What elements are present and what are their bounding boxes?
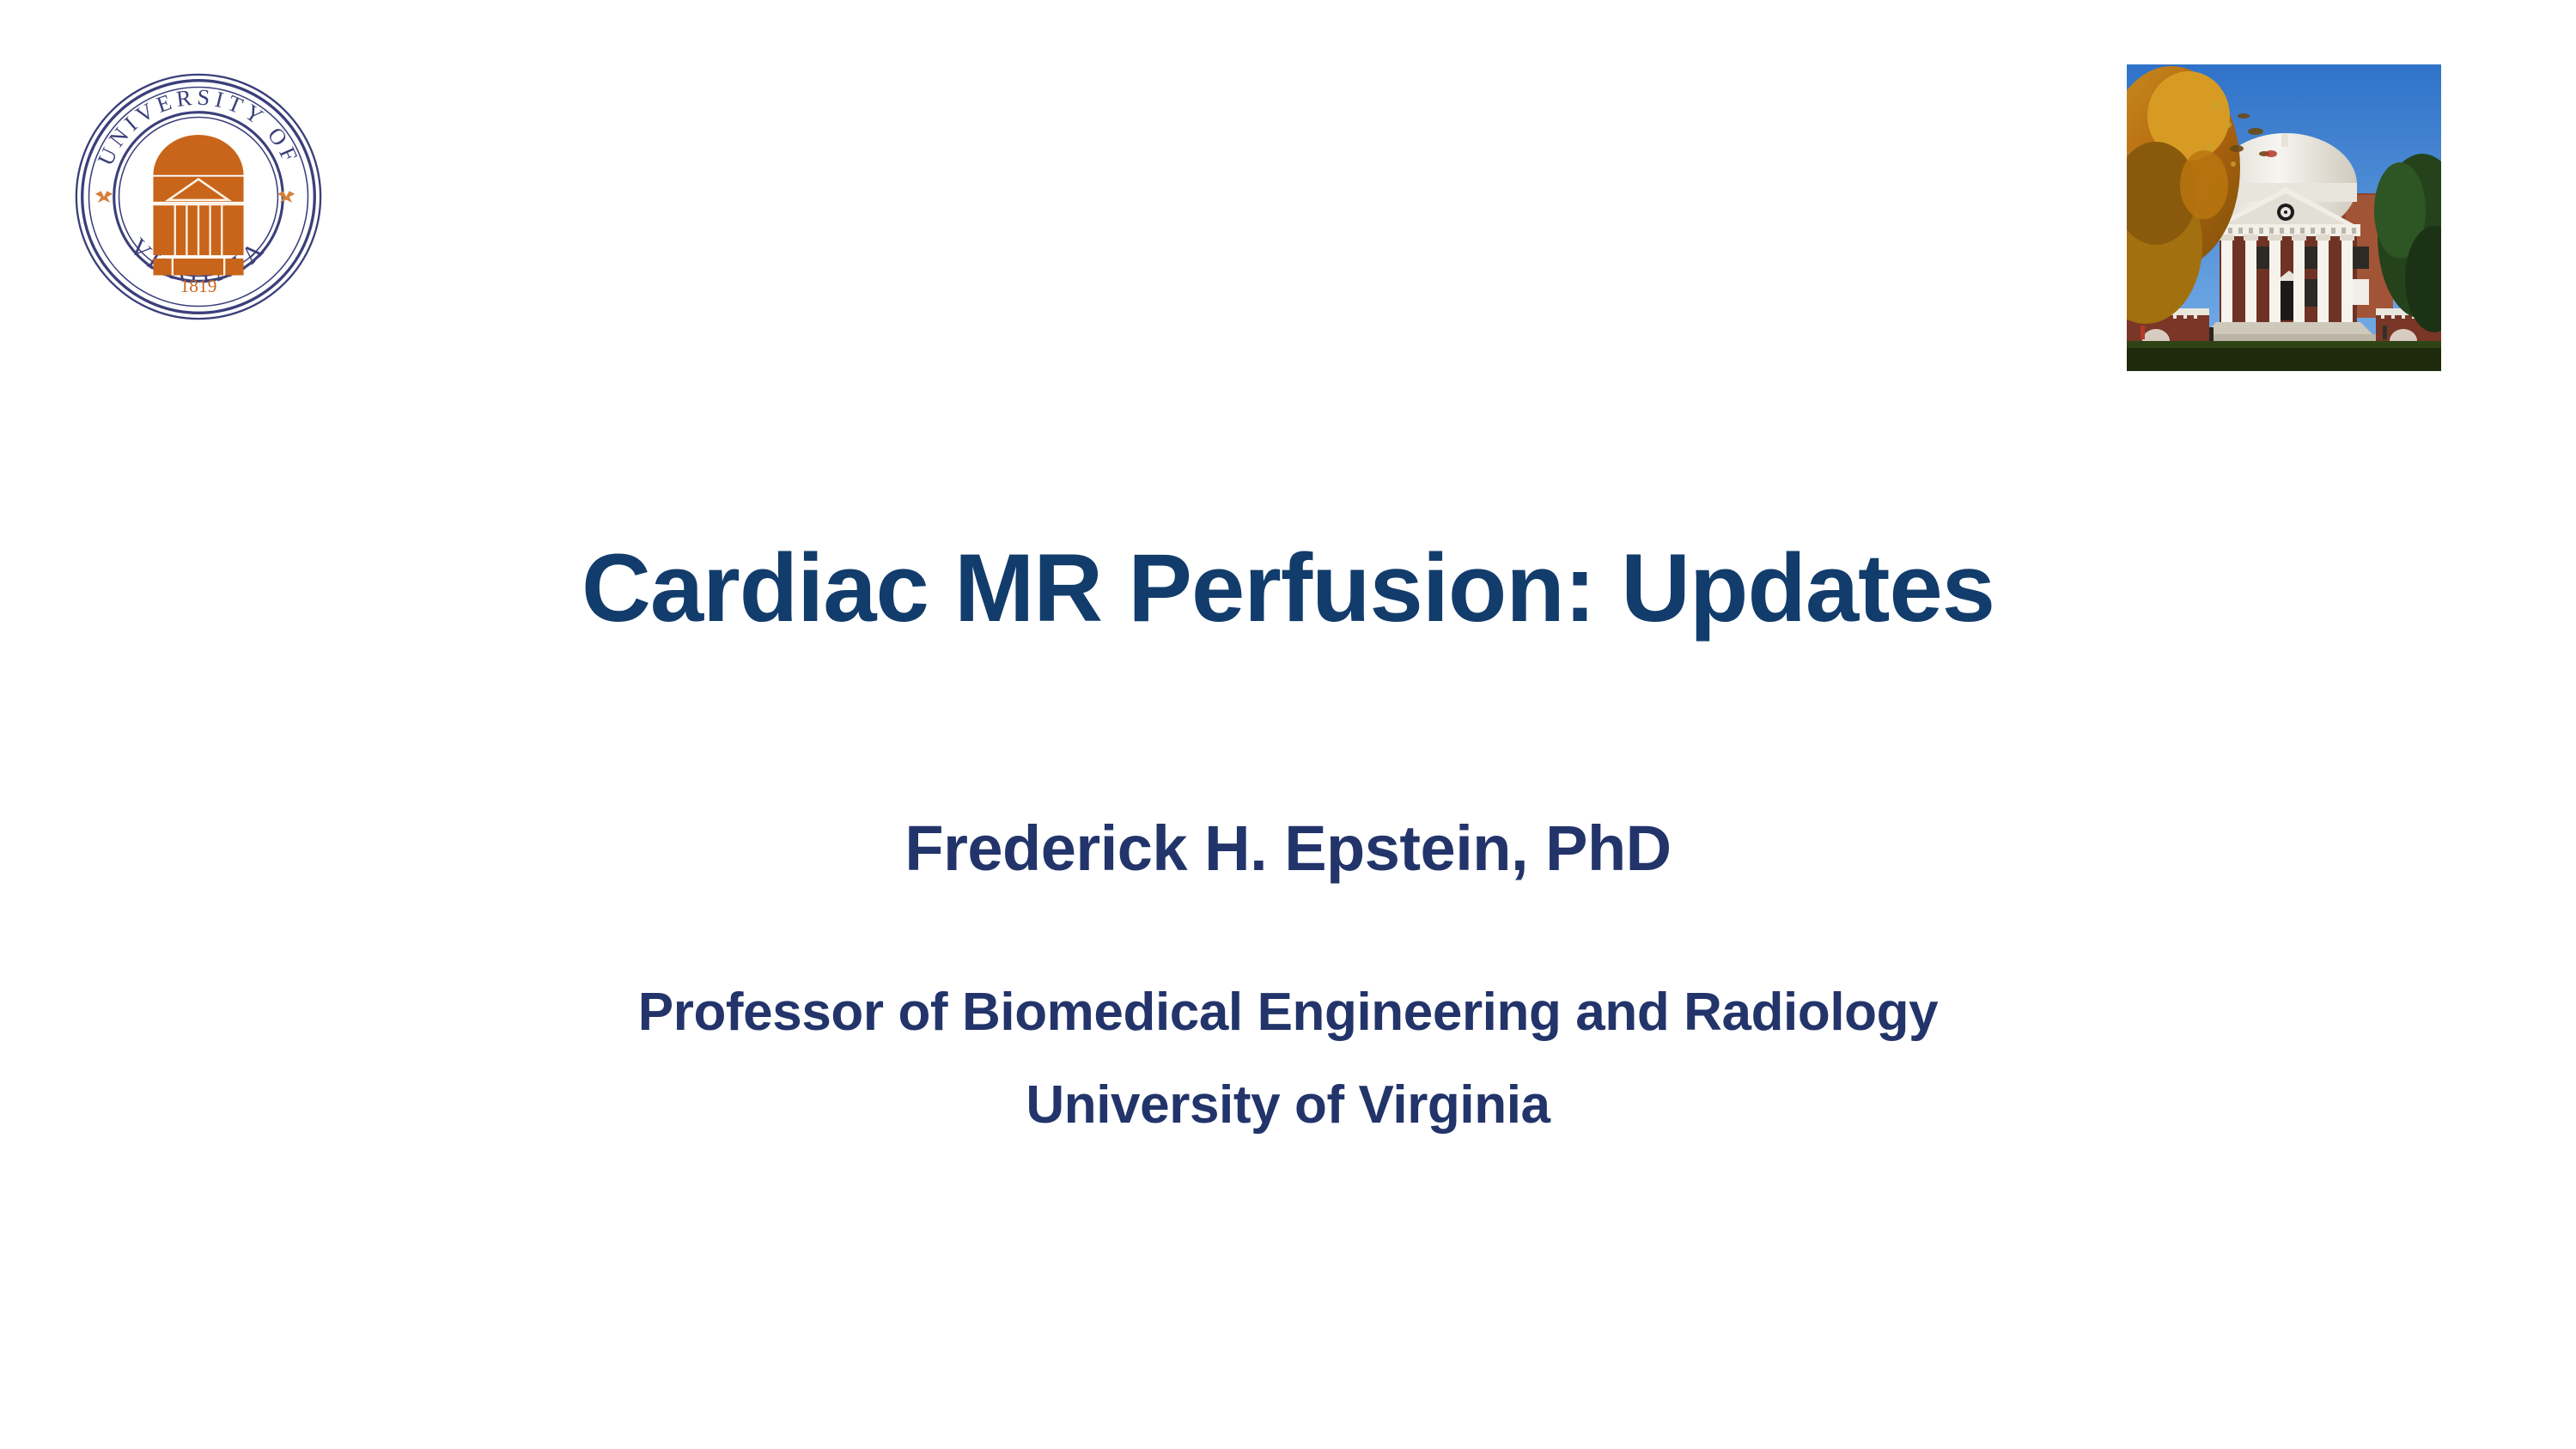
presenter-name: Frederick H. Epstein, PhD [0, 809, 2576, 888]
presentation-title-slide: UNIVERSITY OF VIRGINIA [0, 0, 2576, 1449]
presenter-title: Professor of Biomedical Engineering and … [0, 979, 2576, 1046]
slide-title: Cardiac MR Perfusion: Updates [0, 533, 2576, 644]
presenter-institution: University of Virginia [0, 1072, 2576, 1139]
slide-text-block: Cardiac MR Perfusion: Updates Frederick … [0, 0, 2576, 1449]
